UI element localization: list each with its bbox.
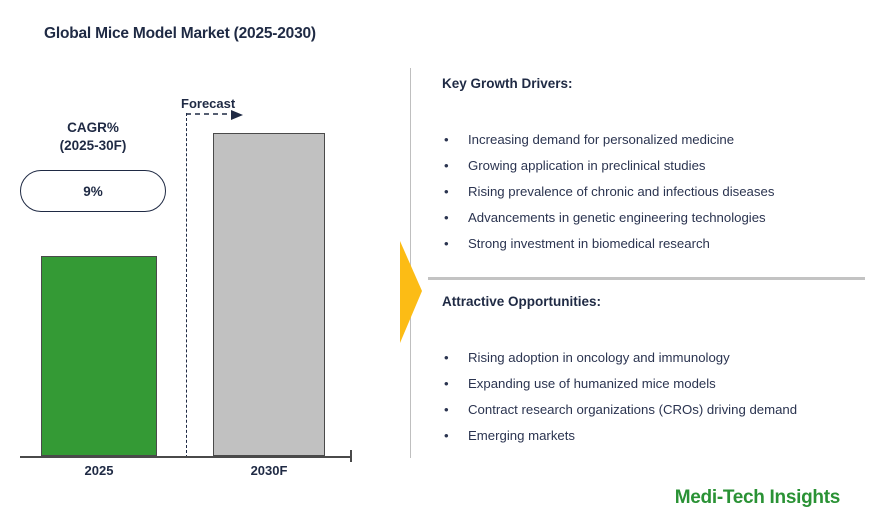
cagr-label: CAGR% <box>67 120 119 135</box>
list-item: • Increasing demand for personalized med… <box>442 127 878 153</box>
list-item: • Strong investment in biomedical resear… <box>442 231 878 257</box>
cagr-period: (2025-30F) <box>20 137 166 155</box>
list-item-label: Growing application in preclinical studi… <box>468 158 706 173</box>
bullet-icon: • <box>444 423 449 449</box>
list-item: • Contract research organizations (CROs)… <box>442 397 878 423</box>
bar-2025 <box>41 256 157 456</box>
x-tick-label-2030f: 2030F <box>213 463 325 478</box>
cagr-value-pill: 9% <box>20 170 166 212</box>
list-item: • Rising prevalence of chronic and infec… <box>442 179 878 205</box>
bullet-icon: • <box>444 371 449 397</box>
list-item: • Expanding use of humanized mice models <box>442 371 878 397</box>
forecast-label: Forecast <box>181 96 235 111</box>
forecast-divider-line <box>186 113 187 458</box>
key-growth-drivers-heading: Key Growth Drivers: <box>442 76 573 91</box>
chart-panel: CAGR% (2025-30F) 9% Forecast 2025 2030F <box>0 0 400 528</box>
x-tick-label-2025: 2025 <box>41 463 157 478</box>
brand-logo: Medi-Tech Insights <box>675 487 840 509</box>
cagr-caption: CAGR% (2025-30F) <box>20 119 166 155</box>
list-item-label: Emerging markets <box>468 428 575 443</box>
list-item-label: Strong investment in biomedical research <box>468 236 710 251</box>
list-item-label: Advancements in genetic engineering tech… <box>468 210 766 225</box>
key-growth-drivers-list: • Increasing demand for personalized med… <box>442 127 878 257</box>
list-item-label: Increasing demand for personalized medic… <box>468 132 734 147</box>
list-item: • Advancements in genetic engineering te… <box>442 205 878 231</box>
bar-2030f <box>213 133 325 456</box>
attractive-opportunities-heading: Attractive Opportunities: <box>442 294 601 309</box>
bullet-icon: • <box>444 397 449 423</box>
x-axis-endcap <box>350 450 352 462</box>
attractive-opportunities-list: • Rising adoption in oncology and immuno… <box>442 345 878 449</box>
cagr-value: 9% <box>83 184 103 199</box>
bullet-icon: • <box>444 153 449 179</box>
info-panel: Key Growth Drivers: • Increasing demand … <box>428 0 878 528</box>
section-divider <box>428 277 865 280</box>
list-item-label: Rising adoption in oncology and immunolo… <box>468 350 730 365</box>
bullet-icon: • <box>444 127 449 153</box>
yellow-arrow-icon <box>398 241 424 343</box>
bullet-icon: • <box>444 345 449 371</box>
list-item: • Growing application in preclinical stu… <box>442 153 878 179</box>
list-item-label: Contract research organizations (CROs) d… <box>468 402 797 417</box>
x-axis-line <box>20 456 352 458</box>
bullet-icon: • <box>444 231 449 257</box>
bullet-icon: • <box>444 179 449 205</box>
list-item-label: Rising prevalence of chronic and infecti… <box>468 184 774 199</box>
list-item-label: Expanding use of humanized mice models <box>468 376 716 391</box>
bullet-icon: • <box>444 205 449 231</box>
list-item: • Rising adoption in oncology and immuno… <box>442 345 878 371</box>
list-item: • Emerging markets <box>442 423 878 449</box>
forecast-arrow-icon <box>186 110 246 124</box>
